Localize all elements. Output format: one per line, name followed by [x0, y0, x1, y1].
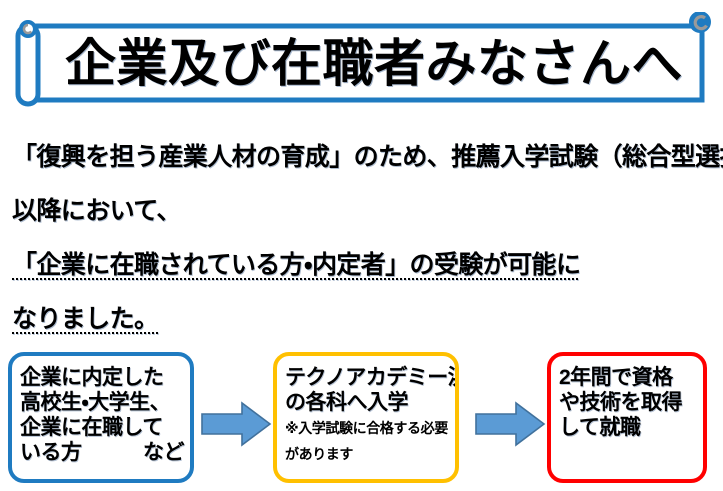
page-title: 企業及び在職者みなさんへ — [54, 26, 694, 100]
flow-box-applicants-line-2: 高校生・大学生、 — [20, 390, 184, 415]
flow-diagram: 企業に内定した 高校生・大学生、 企業に在職して いる方 など テクノアカデミー… — [0, 352, 723, 488]
flow-box-applicants-line-4: いる方 など — [20, 440, 184, 465]
flow-box-applicants-line-3: 企業に在職して — [20, 415, 184, 440]
right-arrow-icon-1 — [200, 400, 272, 448]
body-line-4: なりました。 — [12, 292, 718, 346]
flow-box-outcome-line-3: して就職 — [559, 415, 697, 440]
body-line-3: 「企業に在職されている方・内定者」の受験が可能に — [12, 238, 718, 292]
flow-box-outcome-content: 2年間で資格 や技術を取得 して就職 — [559, 365, 697, 440]
title-banner: 企業及び在職者みなさんへ — [8, 12, 715, 114]
right-arrow-icon-2 — [474, 400, 546, 448]
flow-box-enrollment-content: テクノアカデミー浜 の各科へ入学 ※入学試験に合格する必要 があります — [285, 365, 449, 467]
flow-box-outcome-line-1: 2年間で資格 — [559, 365, 697, 390]
flow-box-enrollment-line-2: の各科へ入学 — [285, 390, 449, 415]
body-line-2: 以降において、 — [12, 184, 718, 238]
flow-box-enrollment-note-1: ※入学試験に合格する必要 — [285, 415, 449, 441]
flow-box-applicants-line-1: 企業に内定した — [20, 365, 184, 390]
flow-box-enrollment-line-1: テクノアカデミー浜 — [285, 365, 449, 390]
announcement-body: 「復興を担う産業人材の育成」のため、推薦入学試験（総合型選抜） 以降において、 … — [12, 130, 718, 346]
body-line-1: 「復興を担う産業人材の育成」のため、推薦入学試験（総合型選抜） — [12, 130, 718, 184]
flow-box-outcome: 2年間で資格 や技術を取得 して就職 — [547, 352, 707, 483]
flow-box-outcome-line-2: や技術を取得 — [559, 390, 697, 415]
flow-box-applicants: 企業に内定した 高校生・大学生、 企業に在職して いる方 など — [8, 352, 194, 483]
flow-box-applicants-content: 企業に内定した 高校生・大学生、 企業に在職して いる方 など — [20, 365, 184, 465]
flow-box-enrollment-note-2: があります — [285, 441, 449, 467]
flow-box-enrollment: テクノアカデミー浜 の各科へ入学 ※入学試験に合格する必要 があります — [273, 352, 459, 483]
